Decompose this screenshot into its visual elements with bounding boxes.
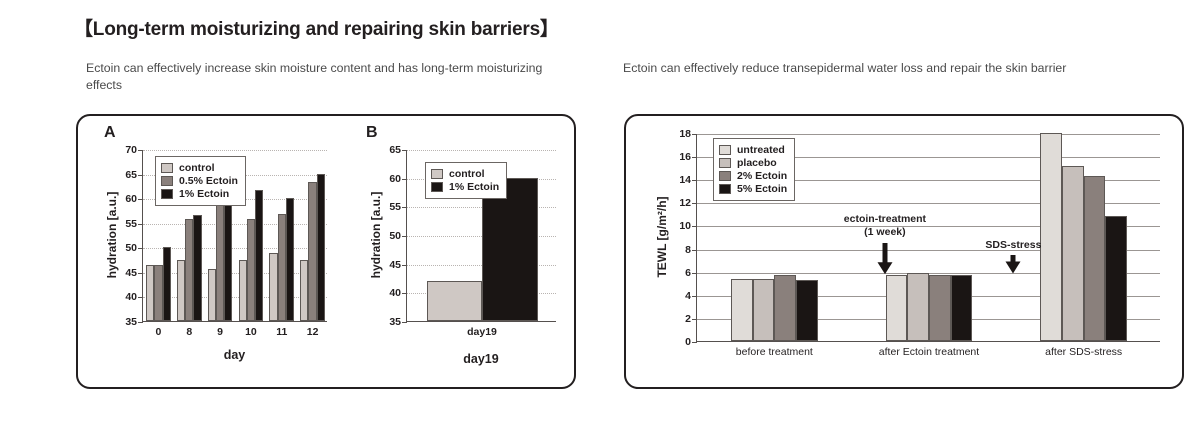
bar-panel-a-5-1 [308,182,316,321]
bar-panel-b-0-1 [482,178,538,321]
panel-letter-a: A [104,124,116,142]
annotation-line-2: (1 week) [844,226,926,239]
legend-swatch-icon [719,145,731,155]
y-axis-tick: 60 [389,173,401,185]
legend-item: 2% Ectoin [719,170,787,182]
bar-panel-a-0-0 [146,265,154,322]
y-axis-tick: 50 [125,242,137,254]
y-axis-tick: 55 [125,218,137,230]
legend-item: 0.5% Ectoin [161,175,238,187]
bar-panel-tewl-2-1 [1062,166,1084,341]
y-axis-tick: 45 [125,267,137,279]
annotation-line-1: SDS-stress [985,239,1041,252]
legend-label: untreated [737,144,785,156]
legend-label: control [449,168,485,180]
bar-panel-tewl-1-0 [886,275,908,341]
gridline [143,150,327,151]
y-axis-tick: 18 [679,128,691,140]
x-axis-tick: 0 [155,326,161,338]
legend-item: 5% Ectoin [719,183,787,195]
y-axis-title: hydration [a.u.] [105,149,119,321]
gridline [697,134,1160,135]
chart-panel-b: 35404550556065day19control1% Ectoinhydra… [364,150,556,350]
y-axis-tick: 65 [389,144,401,156]
legend-swatch-icon [719,184,731,194]
bar-panel-a-1-0 [177,260,185,321]
down-arrow-icon [1004,255,1022,273]
chart-panel-a: 3540455055606570089101112control0.5% Ect… [102,150,327,350]
legend-item: 1% Ectoin [161,188,238,200]
legend-label: 0.5% Ectoin [179,175,238,187]
y-axis-tick: 10 [679,220,691,232]
bar-panel-tewl-0-0 [731,279,753,341]
y-axis-tick: 14 [679,174,691,186]
bar-panel-a-4-2 [286,198,294,321]
left-chart-card: A B 3540455055606570089101112control0.5%… [76,114,576,389]
legend-panel-b: control1% Ectoin [425,162,507,199]
x-axis-tick: 9 [217,326,223,338]
bar-panel-tewl-0-2 [774,275,796,341]
x-axis-tick: after SDS-stress [1045,346,1122,358]
y-axis-title: TEWL [g/m²/h] [655,133,669,341]
left-column-caption: Ectoin can effectively increase skin moi… [86,60,556,94]
y-axis-tick: 35 [389,316,401,328]
y-axis-tick: 4 [685,290,691,302]
bar-panel-a-2-2 [224,201,232,321]
y-axis-tick: 55 [389,201,401,213]
x-axis-tick: day19 [467,326,497,338]
x-axis-tick: 11 [276,326,287,338]
plot-area-panel-a: 3540455055606570089101112control0.5% Ect… [142,150,327,322]
bar-panel-a-0-1 [154,265,162,322]
y-axis-tick: 50 [389,230,401,242]
legend-panel-a: control0.5% Ectoin1% Ectoin [155,156,246,206]
gridline [143,224,327,225]
legend-item: 1% Ectoin [431,181,499,193]
bar-panel-b-0-0 [427,281,483,321]
legend-label: 1% Ectoin [449,181,499,193]
x-axis-title: day19 [406,352,556,366]
y-axis-tick: 35 [125,316,137,328]
right-chart-card: 024681012141618before treatmentafter Ect… [624,114,1184,389]
legend-item: control [161,162,238,174]
legend-item: untreated [719,144,787,156]
y-axis-tick: 60 [125,193,137,205]
bar-panel-a-4-0 [269,253,277,321]
bar-panel-tewl-1-3 [951,275,973,341]
legend-swatch-icon [431,169,443,179]
legend-swatch-icon [161,163,173,173]
x-axis-tick: after Ectoin treatment [879,346,979,358]
y-axis-tick: 8 [685,244,691,256]
y-axis-tick: 45 [389,259,401,271]
legend-item: control [431,168,499,180]
y-axis-tick: 16 [679,151,691,163]
right-column-caption: Ectoin can effectively reduce transepide… [623,60,1143,77]
bar-panel-tewl-1-1 [907,273,929,341]
down-arrow-icon [876,243,894,274]
y-axis-tick: 40 [125,291,137,303]
bar-panel-a-3-1 [247,219,255,321]
bar-panel-a-1-2 [193,215,201,321]
bar-panel-tewl-0-1 [753,279,775,341]
y-axis-tick: 0 [685,336,691,348]
legend-swatch-icon [719,171,731,181]
plot-area-panel-b: 35404550556065day19control1% Ectoin [406,150,556,322]
bar-panel-tewl-0-3 [796,280,818,341]
legend-swatch-icon [719,158,731,168]
bar-panel-tewl-1-2 [929,275,951,341]
plot-area-panel-tewl: 024681012141618before treatmentafter Ect… [696,134,1160,342]
bar-panel-a-2-0 [208,269,216,321]
x-axis-tick: 8 [186,326,192,338]
y-axis-title: hydration [a.u.] [369,149,383,321]
bar-panel-a-2-1 [216,201,224,321]
bar-panel-a-5-2 [317,174,325,321]
annotation-ectoin-treatment: ectoin-treatment(1 week) [844,213,926,239]
page-title: 【Long-term moisturizing and repairing sk… [74,14,559,41]
bar-panel-tewl-2-0 [1040,133,1062,341]
panel-letter-b: B [366,124,378,142]
bar-panel-a-0-2 [163,247,171,321]
legend-label: 1% Ectoin [179,188,229,200]
bar-panel-tewl-2-2 [1084,176,1106,341]
y-axis-tick: 12 [679,197,691,209]
legend-panel-tewl: untreatedplacebo2% Ectoin5% Ectoin [713,138,795,201]
x-axis-title: day [142,348,327,362]
legend-swatch-icon [161,176,173,186]
y-axis-tick: 2 [685,313,691,325]
y-axis-tick: 6 [685,267,691,279]
bar-panel-a-5-0 [300,260,308,321]
bar-panel-a-1-1 [185,219,193,321]
x-axis-tick: before treatment [736,346,813,358]
gridline [407,150,556,151]
legend-label: placebo [737,157,777,169]
y-axis-tick: 70 [125,144,137,156]
x-axis-tick: 12 [307,326,319,338]
bar-panel-a-3-0 [239,260,247,321]
legend-item: placebo [719,157,787,169]
bar-panel-tewl-2-3 [1105,216,1127,341]
legend-label: 5% Ectoin [737,183,787,195]
legend-label: control [179,162,215,174]
y-axis-tick: 40 [389,287,401,299]
legend-label: 2% Ectoin [737,170,787,182]
y-axis-tick: 65 [125,169,137,181]
x-axis-tick: 10 [245,326,257,338]
bar-panel-a-3-2 [255,190,263,321]
legend-swatch-icon [161,189,173,199]
annotation-line-1: ectoin-treatment [844,213,926,226]
annotation-sds-stress: SDS-stress [985,239,1041,252]
chart-panel-tewl: 024681012141618before treatmentafter Ect… [648,134,1160,364]
legend-swatch-icon [431,182,443,192]
bar-panel-a-4-1 [278,214,286,321]
